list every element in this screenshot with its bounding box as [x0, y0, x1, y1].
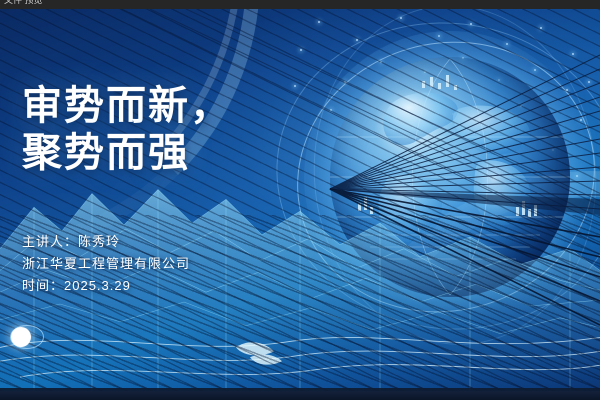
- slide-title: 审势而新， 聚势而强: [22, 83, 232, 177]
- converging-beam-lines: [0, 9, 600, 391]
- circle-marker: [10, 325, 44, 349]
- slide-title-line-2: 聚势而强: [22, 130, 232, 177]
- presenter-line: 主讲人：陈秀玲: [22, 231, 190, 253]
- application-top-bar[interactable]: 文件 预览: [0, 0, 600, 9]
- slide-canvas: 审势而新， 聚势而强 主讲人：陈秀玲 浙江华夏工程管理有限公司 时间：2025.…: [0, 9, 600, 391]
- slide-title-line-1: 审势而新，: [22, 83, 232, 130]
- company-line: 浙江华夏工程管理有限公司: [22, 253, 190, 275]
- date-line: 时间：2025.3.29: [22, 275, 190, 297]
- topbar-label: 文件 预览: [4, 0, 43, 5]
- application-bottom-bar[interactable]: [0, 391, 600, 400]
- slide-subtitle-block: 主讲人：陈秀玲 浙江华夏工程管理有限公司 时间：2025.3.29: [22, 231, 190, 297]
- presentation-viewer: 文件 预览: [0, 0, 600, 400]
- circle-marker-dot: [11, 327, 31, 347]
